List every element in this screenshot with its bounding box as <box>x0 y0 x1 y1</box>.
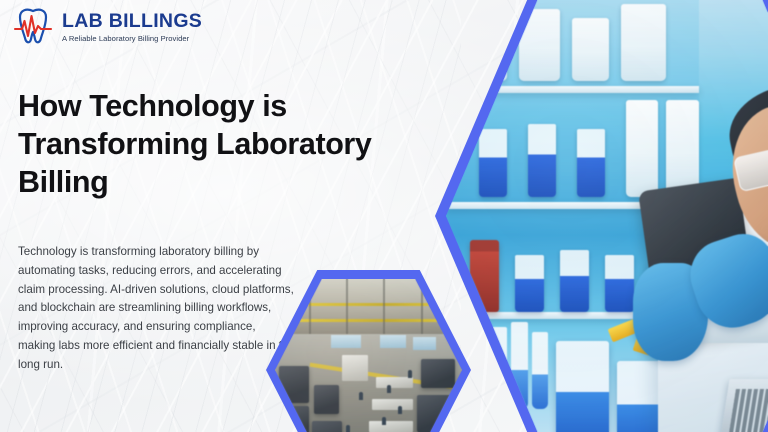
lab-scientist-photo <box>446 0 768 432</box>
hero-headline: How Technology is Transforming Laborator… <box>18 88 448 201</box>
brand-tagline: A Reliable Laboratory Billing Provider <box>62 35 202 43</box>
factory-floor-hexagon <box>266 270 471 432</box>
tooth-heartbeat-icon <box>10 5 56 49</box>
lab-scientist-hexagon <box>435 0 768 432</box>
brand-text-block: LAB BILLINGS A Reliable Laboratory Billi… <box>62 12 202 43</box>
hero-body-text: Technology is transforming laboratory bi… <box>18 243 296 374</box>
brand-name: LAB BILLINGS <box>62 12 202 32</box>
brand-logo[interactable]: LAB BILLINGS A Reliable Laboratory Billi… <box>10 5 202 49</box>
banner-canvas: LAB BILLINGS A Reliable Laboratory Billi… <box>0 0 768 432</box>
